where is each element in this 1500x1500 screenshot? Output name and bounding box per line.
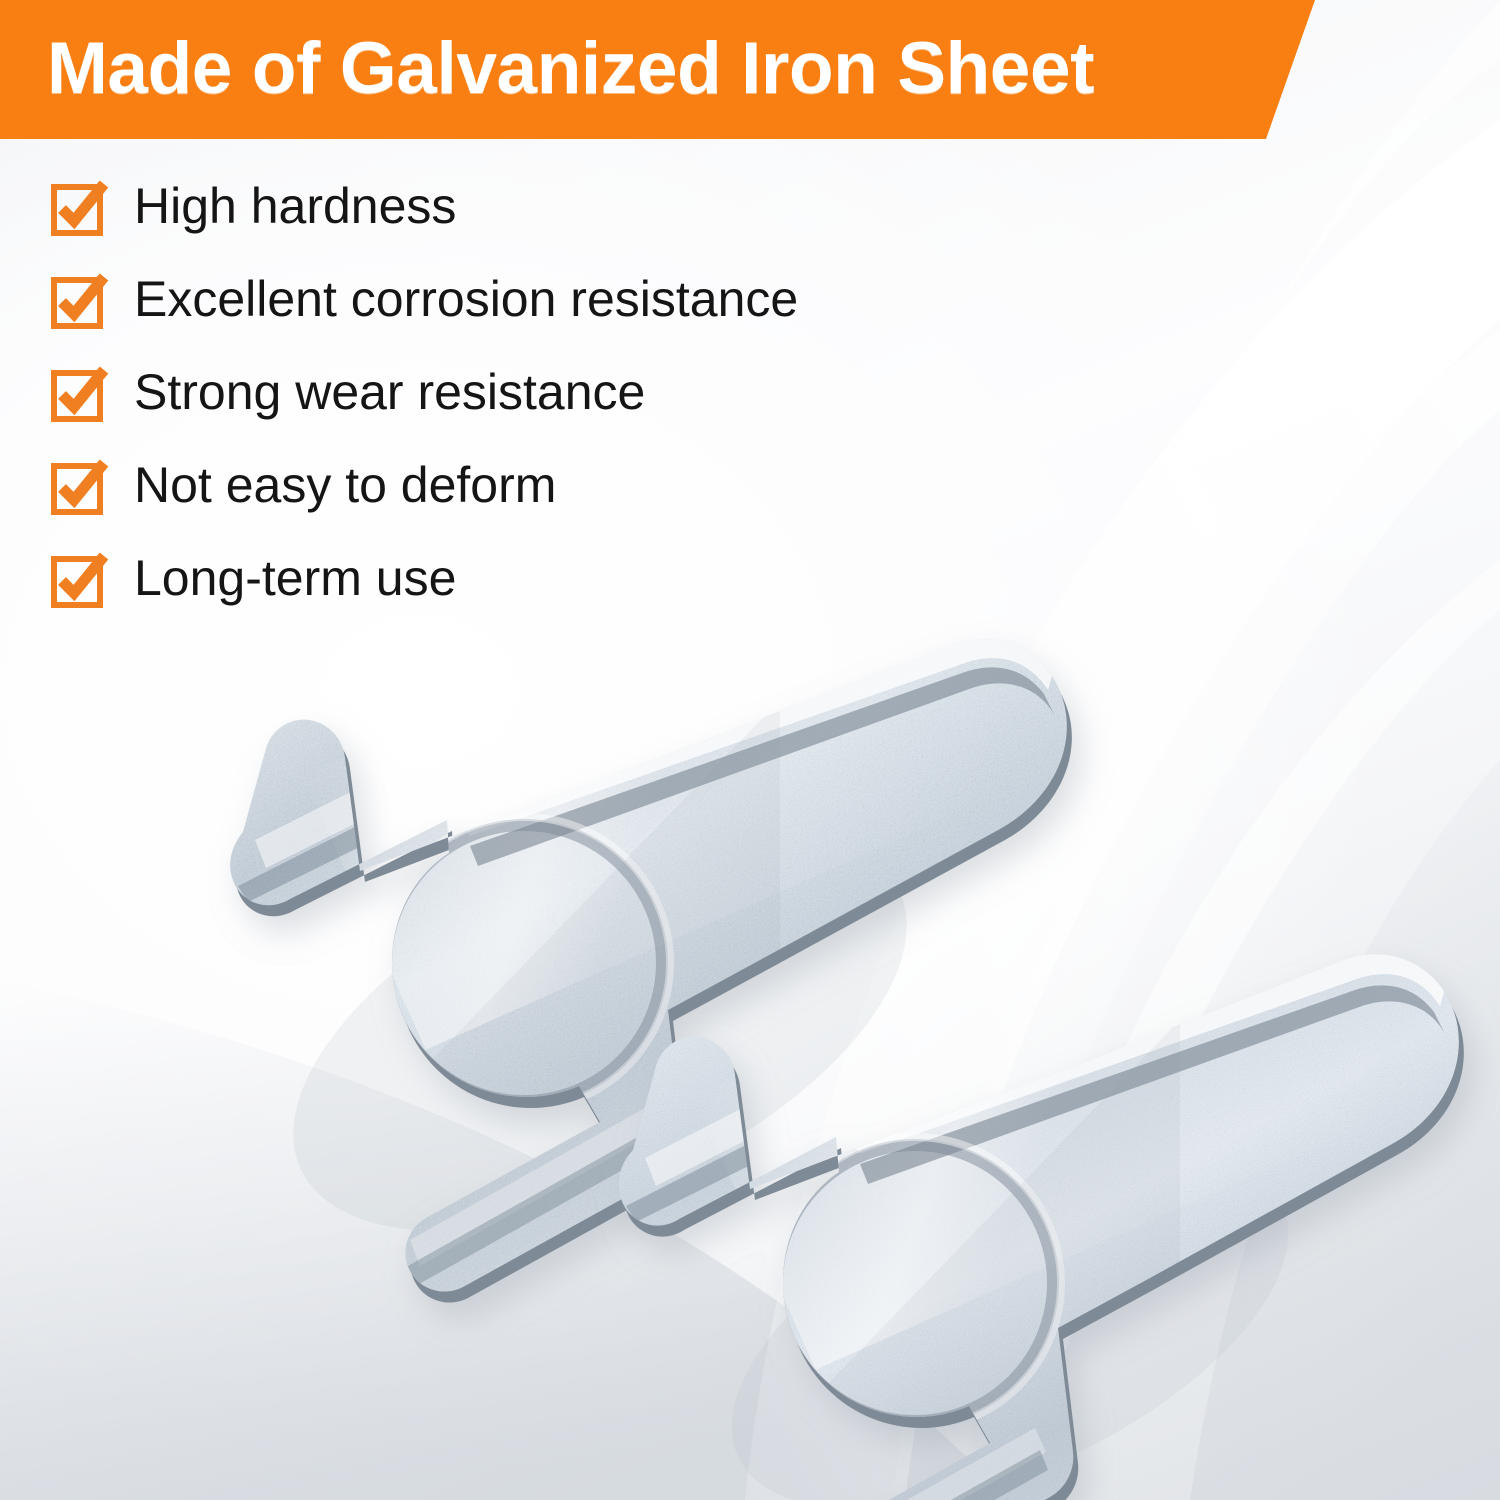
feature-item: Not easy to deform [50, 455, 1050, 548]
checkbox-checked-icon [50, 461, 108, 519]
checkbox-checked-icon [50, 368, 108, 426]
feature-list: High hardness Excellent corrosion resist… [50, 176, 1050, 641]
checkbox-checked-icon-svg [50, 461, 108, 519]
header-banner: Made of Galvanized Iron Sheet [0, 0, 1315, 139]
feature-label: Excellent corrosion resistance [134, 269, 798, 329]
checkbox-checked-icon-svg [50, 275, 108, 333]
feature-label: High hardness [134, 176, 456, 236]
feature-label: Not easy to deform [134, 455, 556, 515]
checkbox-checked-icon [50, 182, 108, 240]
checkbox-checked-icon-svg [50, 554, 108, 612]
checkbox-checked-icon [50, 554, 108, 612]
feature-label: Long-term use [134, 548, 456, 608]
product-feature-image: Made of Galvanized Iron Sheet High hardn… [0, 0, 1500, 1500]
feature-item: Strong wear resistance [50, 362, 1050, 455]
header-title: Made of Galvanized Iron Sheet [47, 32, 1094, 105]
feature-item: Excellent corrosion resistance [50, 269, 1050, 362]
feature-item: Long-term use [50, 548, 1050, 641]
checkbox-checked-icon [50, 275, 108, 333]
checkbox-checked-icon-svg [50, 368, 108, 426]
checkbox-checked-icon-svg [50, 182, 108, 240]
feature-label: Strong wear resistance [134, 362, 645, 422]
feature-item: High hardness [50, 176, 1050, 269]
